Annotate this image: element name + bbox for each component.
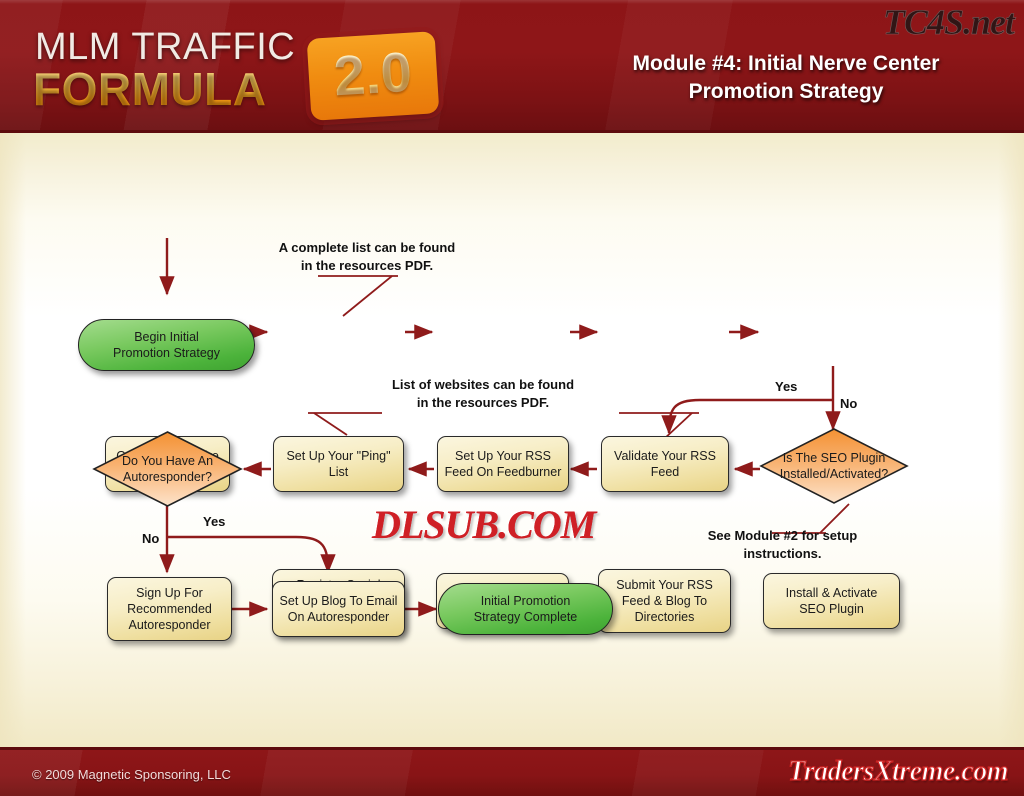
canvas-left-vignette bbox=[0, 133, 26, 747]
branch-label-seo-yes: Yes bbox=[775, 379, 797, 394]
node-install-activate-seo-plugin[interactable]: Install & ActivateSEO Plugin bbox=[763, 573, 900, 629]
slide-page: MLM TRAFFIC FORMULA 2.0 Module #4: Initi… bbox=[0, 0, 1024, 796]
node-label: Sign Up ForRecommendedAutoresponder bbox=[127, 585, 212, 633]
slide-header: MLM TRAFFIC FORMULA 2.0 Module #4: Initi… bbox=[0, 0, 1024, 133]
annot-ping-leader bbox=[343, 276, 392, 316]
annotation-social-websites-note: List of websites can be foundin the reso… bbox=[248, 376, 718, 412]
node-label: Install & ActivateSEO Plugin bbox=[786, 585, 878, 617]
branch-label-auto-no: No bbox=[142, 531, 159, 546]
node-label: Set Up Your "Ping"List bbox=[286, 448, 390, 480]
annot-social-leader bbox=[314, 413, 347, 435]
branch-label-seo-no: No bbox=[840, 396, 857, 411]
node-do-you-have-autoresponder-decision[interactable]: Do You Have AnAutoresponder? bbox=[91, 429, 244, 509]
header-highlight bbox=[0, 0, 1024, 4]
dlsub-watermark: DLSUB.COM bbox=[372, 501, 595, 548]
edge-auto-yes-blog bbox=[167, 537, 328, 572]
node-initial-promotion-strategy-complete[interactable]: Initial PromotionStrategy Complete bbox=[438, 583, 613, 635]
flowchart-canvas: Begin InitialPromotion Strategy Go Throu… bbox=[0, 133, 1024, 747]
node-label: Set Up Blog To EmailOn Autoresponder bbox=[280, 593, 398, 625]
node-set-up-ping-list[interactable]: Set Up Your "Ping"List bbox=[273, 436, 404, 492]
node-set-up-rss-feed-on-feedburner[interactable]: Set Up Your RSSFeed On Feedburner bbox=[437, 436, 569, 492]
annotation-ping-list-note: A complete list can be foundin the resou… bbox=[252, 239, 482, 275]
version-badge: 2.0 bbox=[307, 31, 440, 121]
node-sign-up-recommended-autoresponder[interactable]: Sign Up ForRecommendedAutoresponder bbox=[107, 577, 232, 641]
copyright-text: © 2009 Magnetic Sponsoring, LLC bbox=[32, 767, 231, 782]
node-label: Initial PromotionStrategy Complete bbox=[474, 593, 578, 625]
logo-line-2: FORMULA bbox=[33, 62, 266, 116]
branch-label-auto-yes: Yes bbox=[203, 514, 225, 529]
node-label: Is The SEO PluginInstalled/Activated? bbox=[758, 426, 910, 506]
node-label: Do You Have AnAutoresponder? bbox=[91, 429, 244, 509]
version-badge-label: 2.0 bbox=[307, 37, 439, 110]
node-begin-initial-promotion-strategy[interactable]: Begin InitialPromotion Strategy bbox=[78, 319, 255, 371]
node-label: Set Up Your RSSFeed On Feedburner bbox=[445, 448, 562, 480]
node-label: Submit Your RSSFeed & Blog ToDirectories bbox=[616, 577, 713, 625]
node-label: Validate Your RSSFeed bbox=[614, 448, 716, 480]
annotation-see-module-2-note: See Module #2 for setupinstructions. bbox=[690, 527, 875, 563]
node-validate-rss-feed[interactable]: Validate Your RSSFeed bbox=[601, 436, 729, 492]
node-label: Begin InitialPromotion Strategy bbox=[113, 329, 220, 361]
tradersxtreme-watermark: TradersXtreme.com bbox=[788, 756, 1008, 788]
node-set-up-blog-to-email-on-autoresponder[interactable]: Set Up Blog To EmailOn Autoresponder bbox=[272, 581, 405, 637]
node-is-seo-plugin-installed-decision[interactable]: Is The SEO PluginInstalled/Activated? bbox=[758, 426, 910, 506]
canvas-right-vignette bbox=[998, 133, 1024, 747]
mlm-traffic-formula-logo: MLM TRAFFIC FORMULA 2.0 bbox=[33, 26, 423, 116]
page-title: Module #4: Initial Nerve CenterPromotion… bbox=[560, 50, 1012, 106]
tc4s-watermark: TC4S.net bbox=[883, 1, 1014, 43]
node-submit-rss-feed-blog-to-directories[interactable]: Submit Your RSSFeed & Blog ToDirectories bbox=[598, 569, 731, 633]
slide-footer: © 2009 Magnetic Sponsoring, LLC TradersX… bbox=[0, 747, 1024, 796]
